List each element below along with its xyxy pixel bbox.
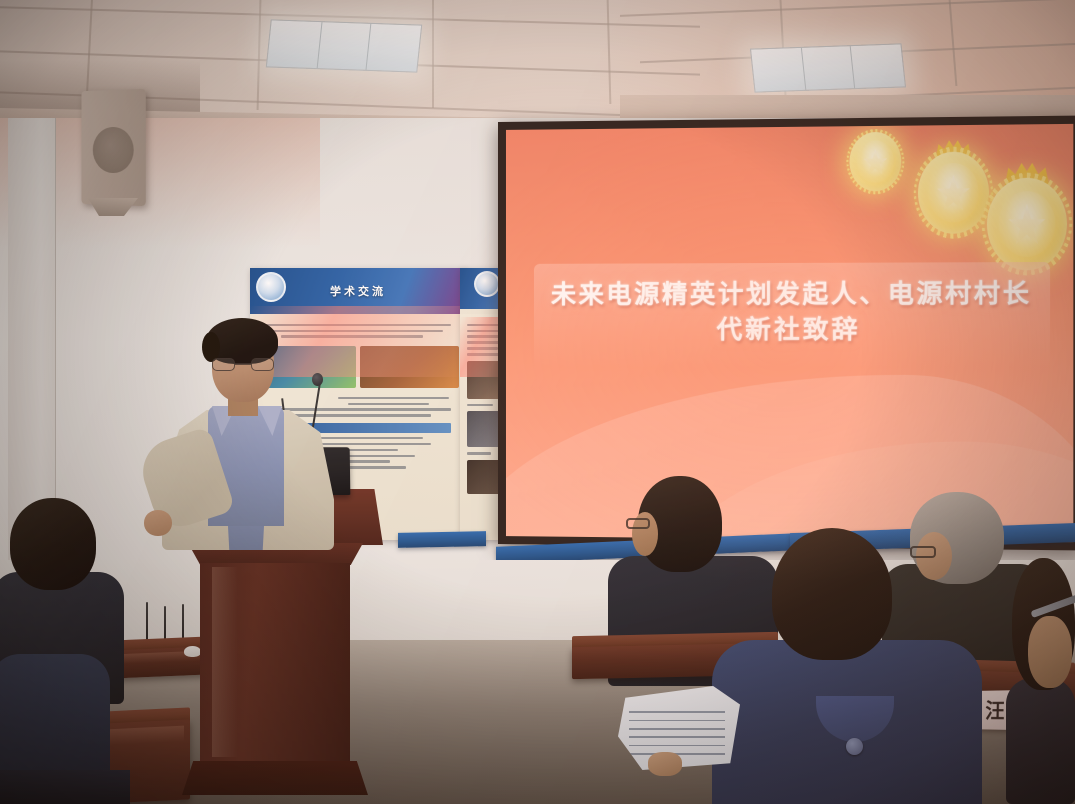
audience-member-center-front <box>712 528 982 804</box>
poster-text-line <box>467 341 502 344</box>
poster-caption-line <box>467 404 493 407</box>
poster-image <box>360 346 459 388</box>
podium-sheen <box>212 567 238 757</box>
slide-title-line-1: 未来电源精英计划发起人、电源村村长 <box>544 276 1040 313</box>
ceiling-light-panel <box>266 19 422 72</box>
eyeglass-lens <box>212 358 235 371</box>
poster-caption-line <box>467 452 491 455</box>
wainscot-segment <box>398 531 486 548</box>
institution-logo-icon <box>256 272 286 302</box>
coat-button <box>846 738 863 755</box>
medal-star-icon <box>1008 204 1046 249</box>
eyeglass-lens <box>251 358 274 371</box>
eyeglasses-icon <box>212 358 274 372</box>
medal-wreath-icon <box>849 132 901 192</box>
audience-head-hair <box>772 528 892 660</box>
slide-title-plate: 未来电源精英计划发起人、电源村村长 代新社致辞 <box>534 262 1050 368</box>
audience-head <box>10 498 96 590</box>
eyeglass-bridge <box>235 363 251 365</box>
projection-screen-frame: 未来电源精英计划发起人、电源村村长 代新社致辞 <box>498 116 1075 551</box>
institution-logo-icon <box>474 271 500 297</box>
medal-wreath-icon <box>918 151 989 233</box>
poster-header: 学术交流 <box>250 268 466 314</box>
poster-text-line <box>467 347 498 350</box>
ceiling-light-panel <box>750 43 906 92</box>
medal-star-icon <box>936 175 970 215</box>
audience-member-right-edge <box>1006 558 1075 804</box>
gold-medal-icon <box>849 132 901 192</box>
ceiling-grid-line <box>432 0 434 108</box>
eyeglasses-icon <box>626 518 650 529</box>
poster-title: 学术交流 <box>330 283 386 299</box>
audience-jacket <box>1006 678 1075 804</box>
audience-face <box>1028 616 1072 688</box>
ceiling-grid-line <box>257 0 262 110</box>
slide-title-line-2: 代新社致辞 <box>544 313 1040 350</box>
podium-base <box>182 761 368 795</box>
wall-speaker-icon <box>81 89 145 206</box>
podium-body <box>200 563 350 763</box>
poster-caption-line <box>348 403 429 406</box>
foreground-shadow <box>0 770 130 804</box>
presenter <box>136 318 356 548</box>
presenter-hand <box>144 510 172 536</box>
projection-screen: 未来电源精英计划发起人、电源村村长 代新社致辞 <box>506 124 1073 542</box>
conference-hall-photo: 学术交流 <box>0 0 1075 804</box>
medal-wreath-icon <box>987 177 1067 270</box>
gold-medal-icon <box>918 151 989 233</box>
audience-hand <box>648 752 682 776</box>
speaker-cone-icon <box>93 127 134 174</box>
medal-star-icon <box>863 149 888 178</box>
gold-medal-icon <box>987 177 1067 270</box>
